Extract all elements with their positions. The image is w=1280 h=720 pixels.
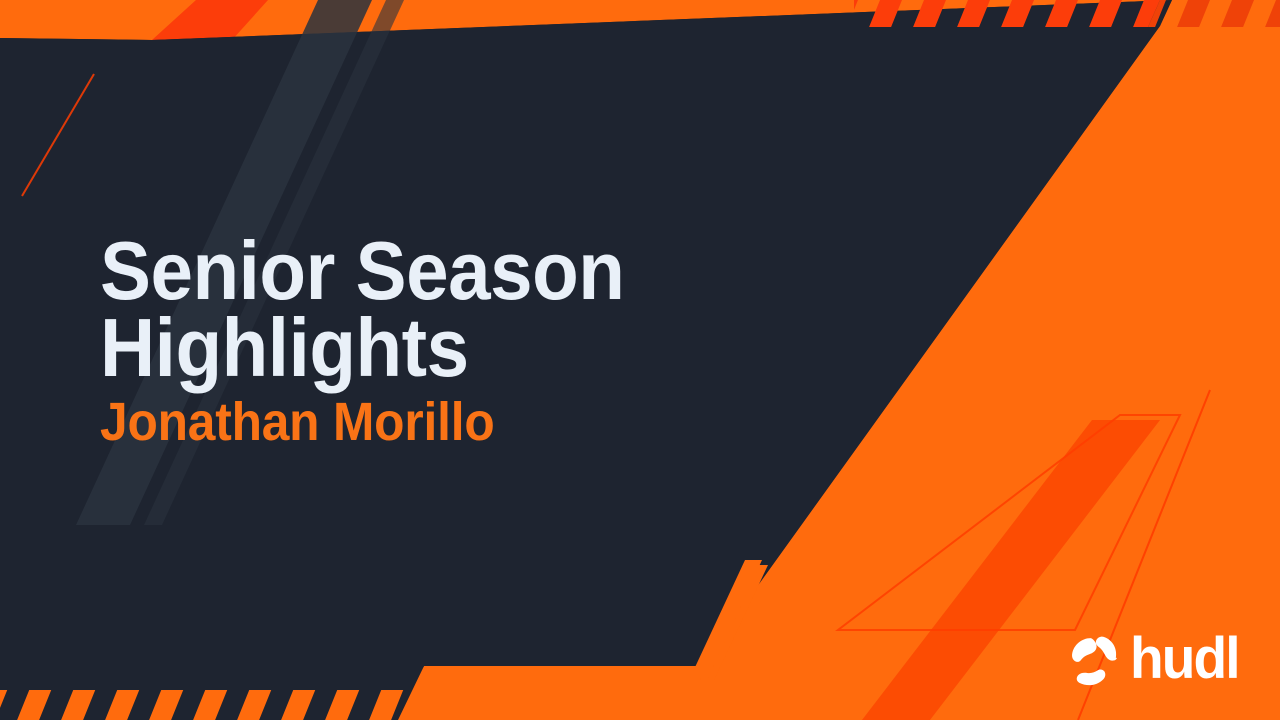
hudl-wordmark: hudl [1130,630,1239,688]
title-block: Senior Season Highlights Jonathan Morill… [100,232,740,449]
page-title-line-1: Senior Season [100,232,689,309]
title-card-canvas: Senior Season Highlights Jonathan Morill… [0,0,1280,720]
bottom-left-stripes [0,685,450,720]
page-title-line-2: Highlights [100,309,689,386]
hudl-tri-claw-icon [1068,635,1120,687]
hudl-logo[interactable]: hudl [1068,632,1244,690]
athlete-name: Jonathan Morillo [100,395,689,449]
